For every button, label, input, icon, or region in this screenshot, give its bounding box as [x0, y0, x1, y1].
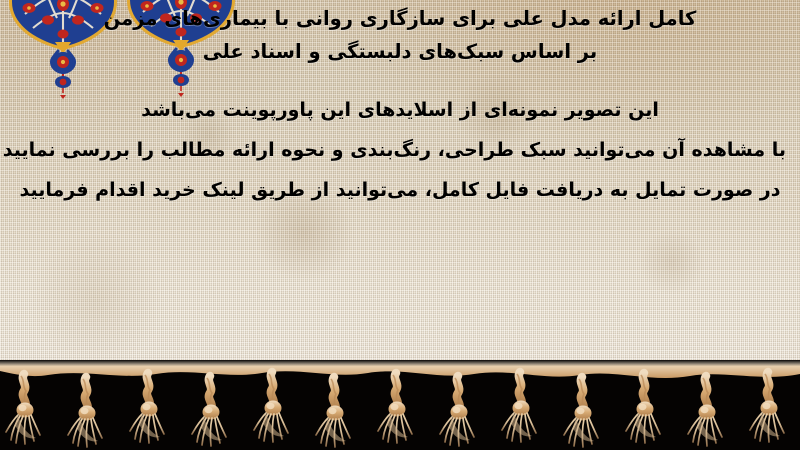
slide-text-stack: کامل ارائه مدل علی برای سازگاری روانی با… [0, 0, 800, 210]
body-line-2: با مشاهده آن می‌توانید سبک طراحی، رنگ‌بن… [14, 130, 786, 170]
body-line-3: در صورت تمایل به دریافت فایل کامل، می‌تو… [14, 170, 786, 210]
body-line-1: این تصویر نمونه‌ای از اسلایدهای این پاور… [14, 90, 786, 130]
carpet-selvedge [0, 360, 800, 378]
carpet-fringe [0, 360, 800, 450]
slide-canvas: کامل ارائه مدل علی برای سازگاری روانی با… [0, 0, 800, 450]
tassel-row [6, 372, 784, 447]
slide-title: کامل ارائه مدل علی برای سازگاری روانی با… [14, 2, 786, 68]
slide-body: این تصویر نمونه‌ای از اسلایدهای این پاور… [14, 90, 786, 210]
title-line-1: کامل ارائه مدل علی برای سازگاری روانی با… [14, 2, 786, 35]
title-line-2: بر اساس سبک‌های دلبستگی و اسناد علی [14, 35, 786, 68]
